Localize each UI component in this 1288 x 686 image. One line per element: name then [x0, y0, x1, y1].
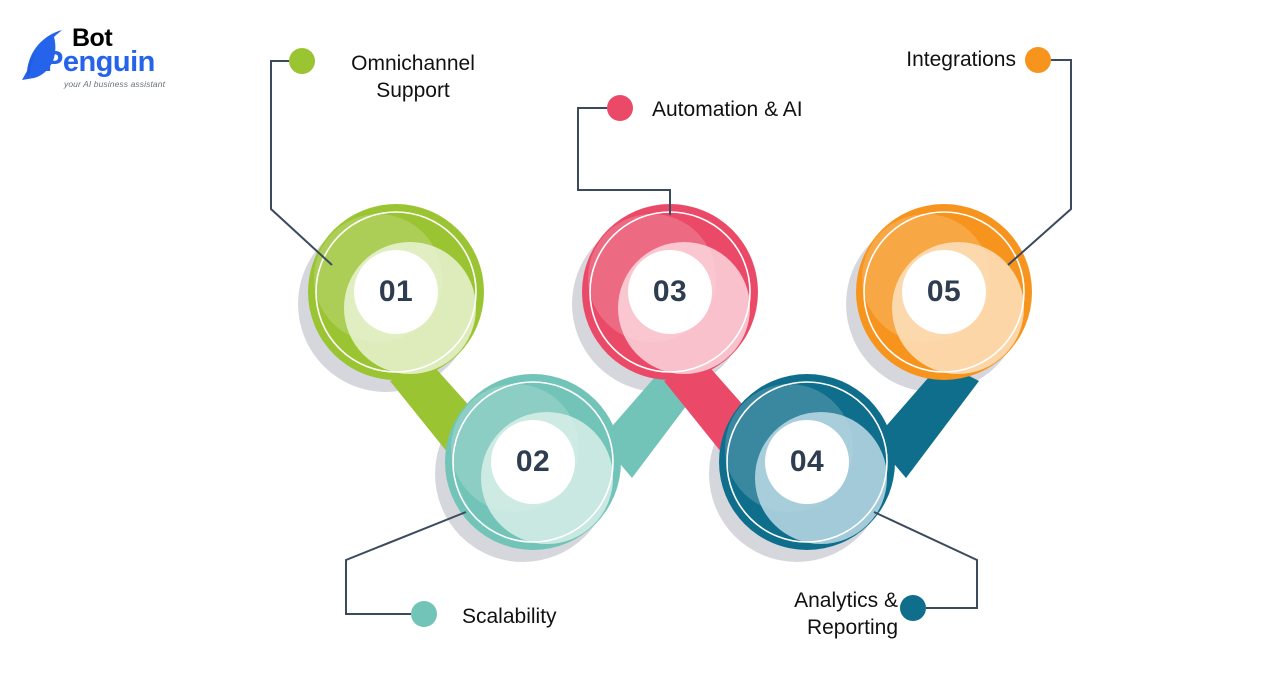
label-dot-05[interactable]: [1025, 47, 1051, 73]
ring-hole-05: [902, 250, 986, 334]
label-dot-02[interactable]: [411, 601, 437, 627]
leader-line-02: [578, 108, 670, 215]
ring-hole-02: [491, 420, 575, 504]
ring-hole-04: [765, 420, 849, 504]
logo-text-penguin: Penguin: [44, 48, 155, 77]
label-dot-01[interactable]: [289, 48, 315, 74]
ring-hole-01: [354, 250, 438, 334]
step-ring-02[interactable]: [445, 374, 621, 550]
step-label-05: Integrations: [850, 46, 1016, 73]
step-label-04: Analytics & Reporting: [748, 587, 898, 642]
step-label-02: Scalability: [462, 603, 622, 630]
step-label-03: Automation & AI: [652, 96, 852, 123]
logo-tagline: your AI business assistant: [64, 79, 165, 89]
leader-line-03: [1008, 60, 1071, 265]
ring-hole-03: [628, 250, 712, 334]
step-ring-05[interactable]: [856, 204, 1032, 380]
step-ring-03[interactable]: [582, 204, 758, 380]
step-ring-04[interactable]: [719, 374, 895, 550]
leader-line-01: [271, 61, 332, 265]
botpenguin-logo: Bot Penguin your AI business assistant: [18, 26, 178, 96]
ring-layer: [308, 204, 1032, 550]
step-ring-01[interactable]: [308, 204, 484, 380]
infographic-canvas: [0, 0, 1288, 686]
leader-line-04: [346, 512, 466, 614]
label-dot-04[interactable]: [900, 595, 926, 621]
step-label-01: Omnichannel Support: [338, 50, 488, 105]
label-dot-03[interactable]: [607, 95, 633, 121]
